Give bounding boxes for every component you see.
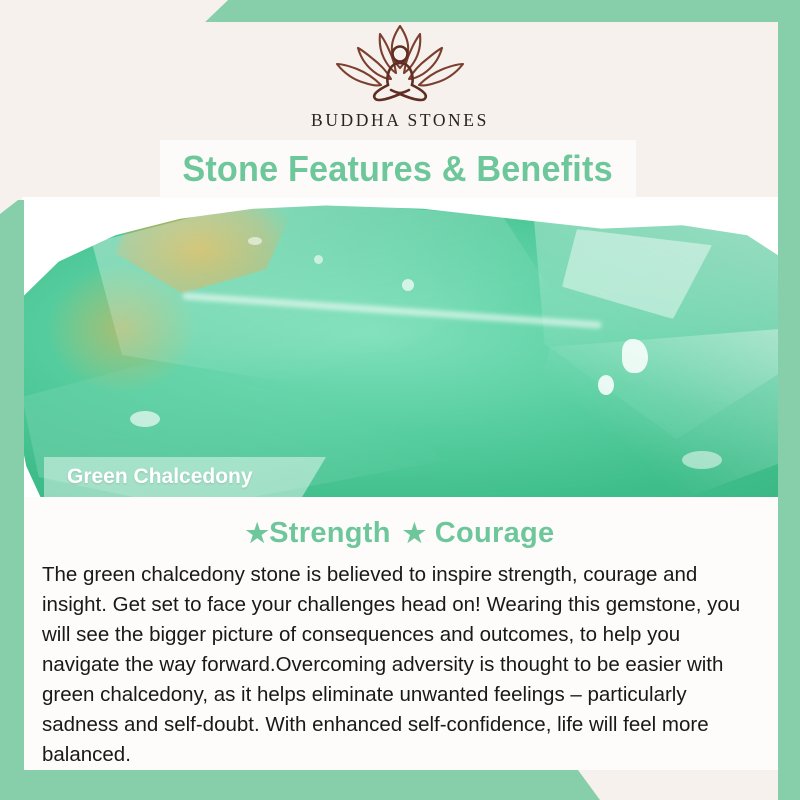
- stone-image: [22, 197, 778, 497]
- title-banner: Stone Features & Benefits: [160, 140, 636, 198]
- stone-sparkle: [622, 339, 648, 373]
- page-title: Stone Features & Benefits: [183, 148, 613, 190]
- stone-sparkle: [682, 451, 722, 469]
- stone-sparkle: [130, 411, 160, 427]
- description-text: The green chalcedony stone is believed t…: [36, 560, 764, 770]
- stone-sparkle: [314, 255, 323, 264]
- stone-edge-highlight: [182, 292, 601, 328]
- right-accent-band: [778, 0, 800, 800]
- content-panel: ★Strength★ Courage The green chalcedony …: [22, 497, 778, 770]
- brand-wordmark: BUDDHA STONES: [311, 110, 489, 131]
- benefit-label-strength: Strength: [269, 517, 391, 549]
- left-accent-band: [0, 200, 24, 800]
- stone-photo: Green Chalcedony: [22, 197, 778, 497]
- stone-sparkle: [598, 375, 614, 395]
- stone-facet-3: [522, 329, 778, 497]
- bottom-accent-band: [0, 770, 800, 800]
- benefits-headline: ★Strength★ Courage: [36, 517, 764, 550]
- benefit-label-courage: Courage: [435, 517, 555, 549]
- stone-sparkle: [402, 279, 414, 291]
- stone-name-label: Green Chalcedony: [67, 465, 253, 489]
- stone-body: [22, 197, 778, 497]
- lotus-meditation-icon: [325, 18, 475, 106]
- stone-sparkle: [248, 237, 262, 245]
- stone-edge-highlight-2: [562, 229, 712, 319]
- brand-logo: BUDDHA STONES: [0, 18, 800, 131]
- star-icon: ★: [403, 518, 427, 548]
- stone-ochre-patch-secondary: [42, 259, 202, 399]
- star-icon: ★: [246, 518, 270, 548]
- stone-caption-banner: Green Chalcedony: [44, 457, 326, 497]
